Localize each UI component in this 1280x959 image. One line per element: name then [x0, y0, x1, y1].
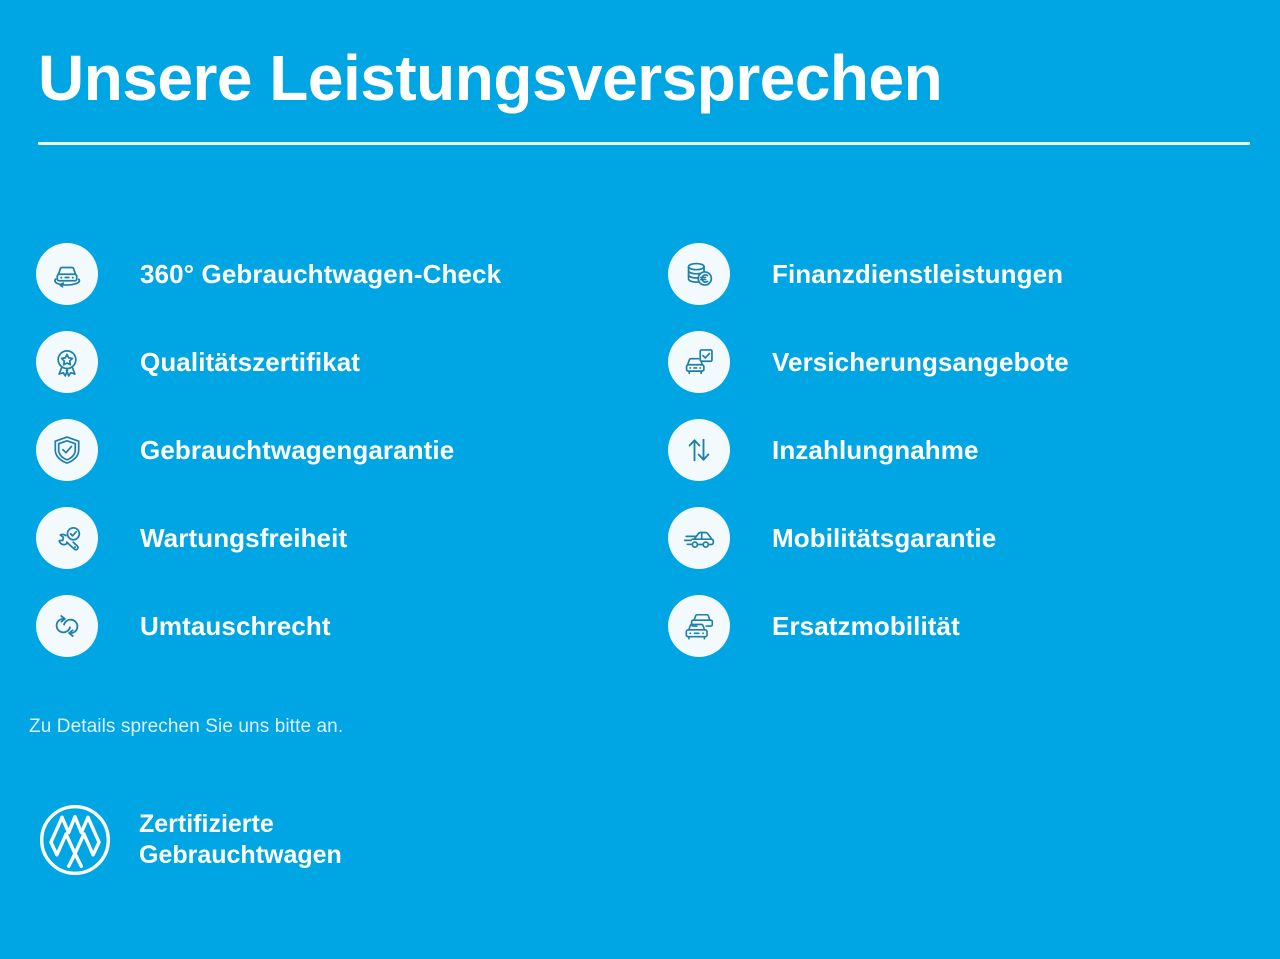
- feature-item-exchange-right: Umtauschrecht: [36, 582, 668, 670]
- car-360-check-icon: [36, 243, 98, 305]
- footnote-text: Zu Details sprechen Sie uns bitte an.: [29, 716, 343, 738]
- wrench-check-icon: [36, 507, 98, 569]
- brand-lockup: Zertifizierte Gebrauchtwagen: [38, 803, 342, 877]
- feature-label: Umtauschrecht: [140, 612, 331, 641]
- brand-line-2: Gebrauchtwagen: [139, 840, 342, 871]
- feature-grid: 360° Gebrauchtwagen-Check Finanzdienstle…: [36, 230, 1256, 670]
- feature-label: Ersatzmobilität: [772, 612, 960, 641]
- feature-label: Inzahlungnahme: [772, 436, 979, 465]
- feature-item-insurance-offers: Versicherungsangebote: [668, 318, 1256, 406]
- car-checkbox-icon: [668, 331, 730, 393]
- page-title: Unsere Leistungsversprechen: [38, 44, 1250, 113]
- two-cars-icon: [668, 595, 730, 657]
- brand-lockup-text: Zertifizierte Gebrauchtwagen: [139, 809, 342, 871]
- feature-label: Gebrauchtwagengarantie: [140, 436, 454, 465]
- feature-label: Finanzdienstleistungen: [772, 260, 1063, 289]
- shield-check-icon: [36, 419, 98, 481]
- feature-item-mobility-guarantee: Mobilitätsgarantie: [668, 494, 1256, 582]
- exchange-arrows-icon: [36, 595, 98, 657]
- feature-item-financial-services: Finanzdienstleistungen: [668, 230, 1256, 318]
- feature-item-360-check: 360° Gebrauchtwagen-Check: [36, 230, 668, 318]
- feature-label: Qualitätszertifikat: [140, 348, 360, 377]
- promise-panel: Unsere Leistungsversprechen 360° Gebrauc…: [0, 0, 1280, 959]
- feature-item-warranty: Gebrauchtwagengarantie: [36, 406, 668, 494]
- feature-label: Versicherungsangebote: [772, 348, 1069, 377]
- title-divider: [38, 142, 1250, 145]
- coins-euro-icon: [668, 243, 730, 305]
- brand-line-1: Zertifizierte: [139, 809, 342, 840]
- feature-label: 360° Gebrauchtwagen-Check: [140, 260, 501, 289]
- vw-roundel-icon: [38, 803, 112, 877]
- award-rosette-icon: [36, 331, 98, 393]
- car-speed-lines-icon: [668, 507, 730, 569]
- header: Unsere Leistungsversprechen: [38, 44, 1250, 145]
- feature-label: Mobilitätsgarantie: [772, 524, 996, 553]
- feature-item-trade-in: Inzahlungnahme: [668, 406, 1256, 494]
- feature-item-quality-certificate: Qualitätszertifikat: [36, 318, 668, 406]
- up-down-arrows-icon: [668, 419, 730, 481]
- feature-label: Wartungsfreiheit: [140, 524, 347, 553]
- feature-item-maintenance-free: Wartungsfreiheit: [36, 494, 668, 582]
- feature-item-replacement-mobility: Ersatzmobilität: [668, 582, 1256, 670]
